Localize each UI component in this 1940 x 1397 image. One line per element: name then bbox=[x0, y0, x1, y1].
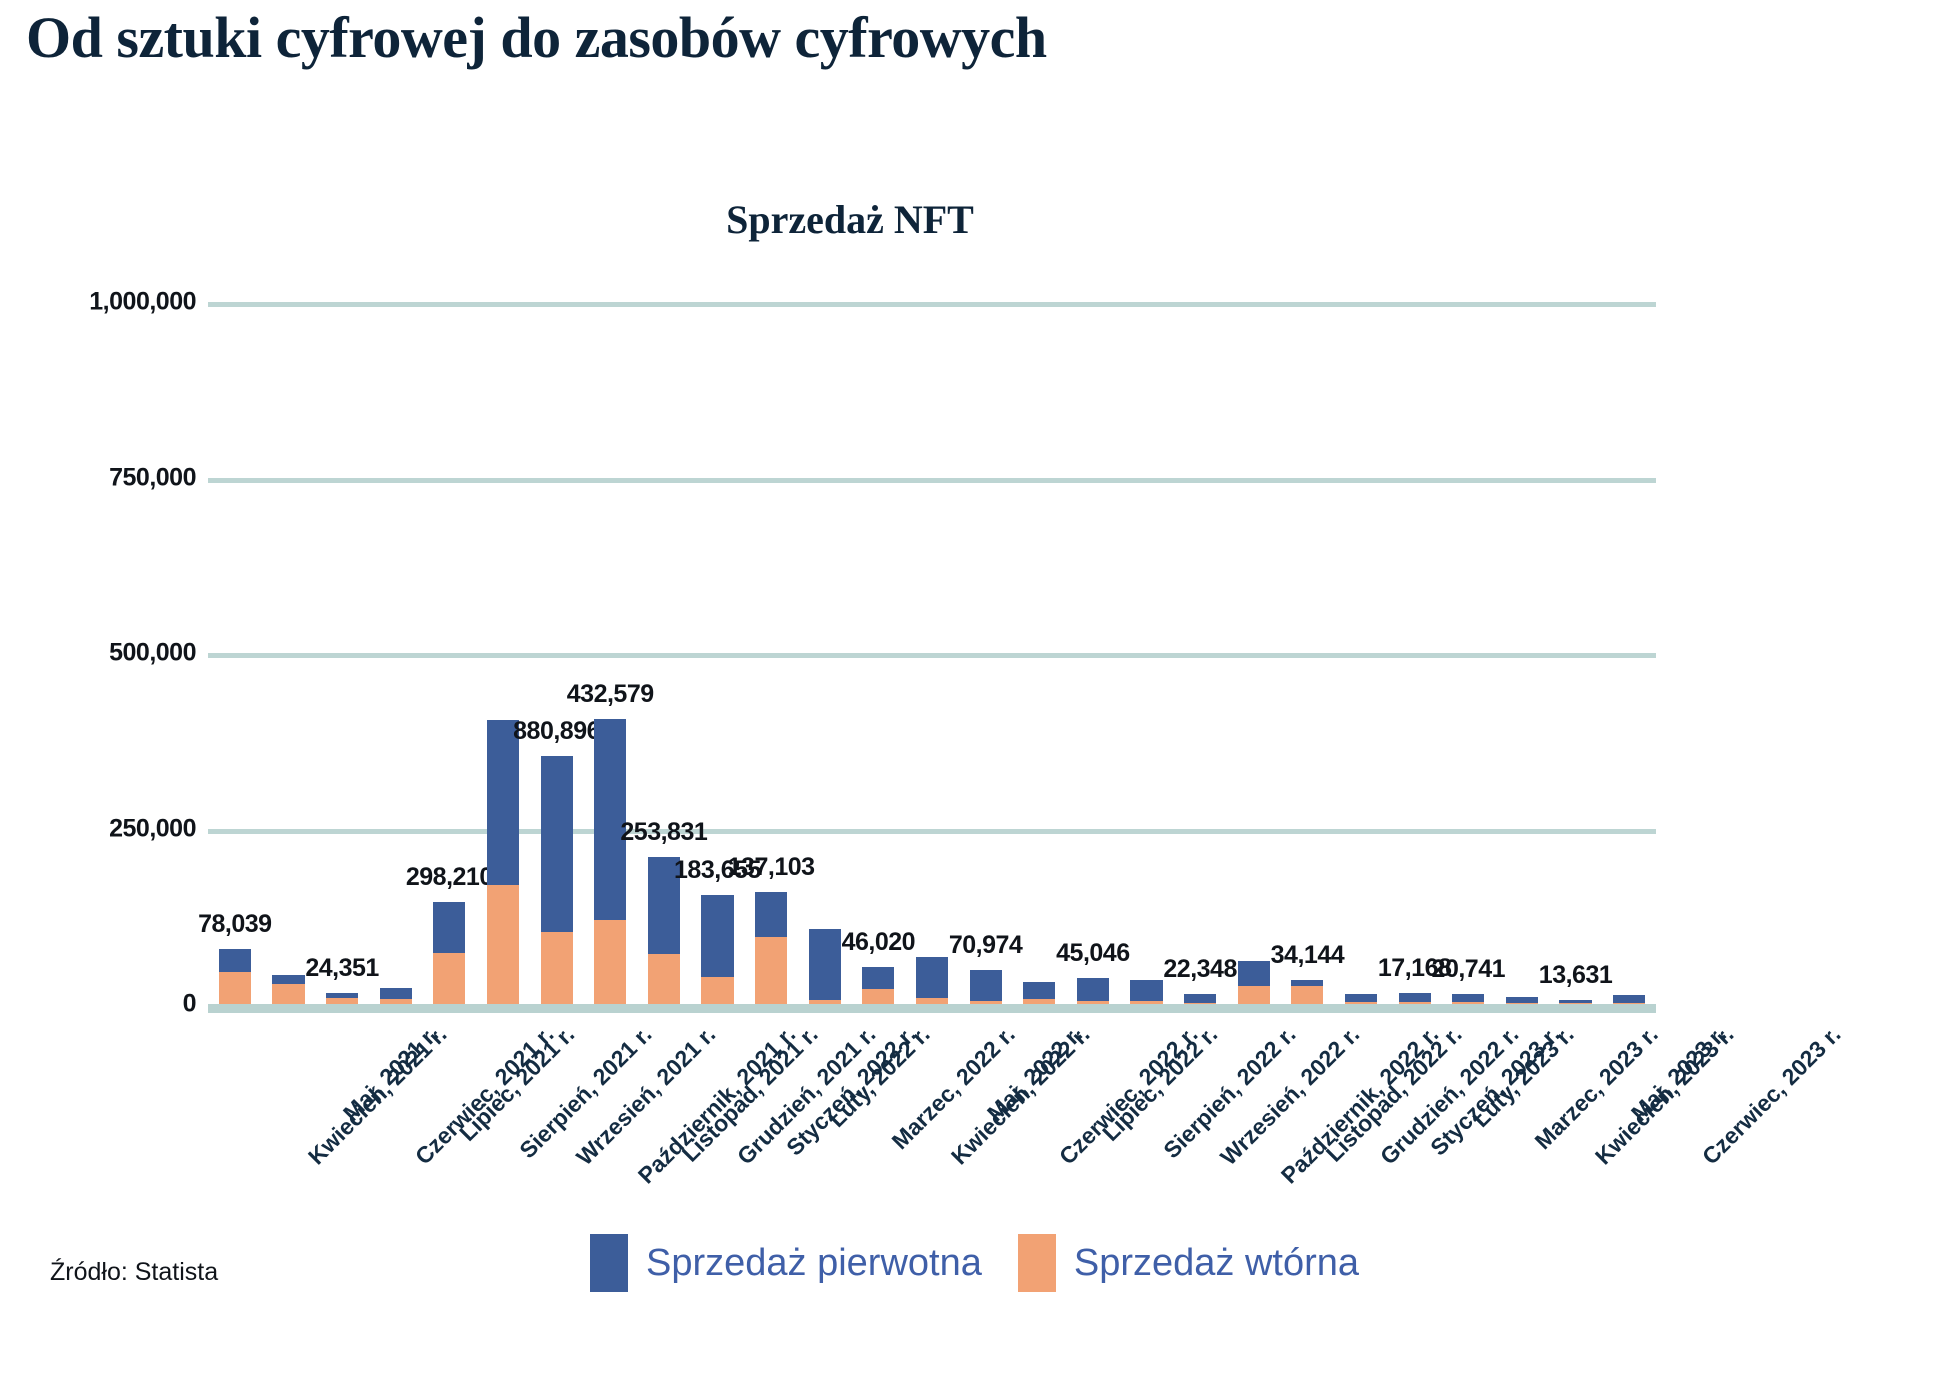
bar-segment-primary[interactable] bbox=[1452, 994, 1484, 1002]
bar-segment-primary[interactable] bbox=[809, 929, 841, 1000]
bar-group[interactable] bbox=[809, 302, 841, 1004]
bar-segment-primary[interactable] bbox=[541, 756, 573, 933]
bar-segment-primary[interactable] bbox=[755, 892, 787, 937]
x-axis-tick: Październik, 2021 r. bbox=[632, 1021, 800, 1189]
bar-segment-primary[interactable] bbox=[701, 895, 733, 977]
bar-value-label: 78,039 bbox=[198, 910, 271, 939]
bar-segment-primary[interactable] bbox=[219, 949, 251, 971]
bar-segment-primary[interactable] bbox=[433, 902, 465, 953]
bar-value-label: 253,831 bbox=[620, 818, 707, 847]
bar-segment-primary[interactable] bbox=[862, 967, 894, 989]
bar-segment-primary[interactable] bbox=[1238, 961, 1270, 986]
plot-area: 78,03924,351298,210880,896432,579253,831… bbox=[208, 302, 1656, 1004]
bar-group[interactable]: 137,103 bbox=[755, 302, 787, 1004]
bar-group[interactable]: 46,020 bbox=[862, 302, 894, 1004]
bar-group[interactable] bbox=[1130, 302, 1162, 1004]
bar-group[interactable]: 70,974 bbox=[970, 302, 1002, 1004]
bar-value-label: 13,631 bbox=[1539, 961, 1612, 990]
bar-value-label: 24,351 bbox=[305, 954, 378, 983]
bar-segment-secondary[interactable] bbox=[862, 989, 894, 1004]
bar-group[interactable]: 253,831 bbox=[648, 302, 680, 1004]
bar-segment-secondary[interactable] bbox=[648, 954, 680, 1004]
bar-group[interactable]: 24,351 bbox=[326, 302, 358, 1004]
bar-group[interactable]: 20,741 bbox=[1452, 302, 1484, 1004]
bar-group[interactable]: 432,579 bbox=[594, 302, 626, 1004]
bar-segment-secondary[interactable] bbox=[541, 932, 573, 1004]
bar-segment-secondary[interactable] bbox=[272, 984, 304, 1004]
bar-segment-primary[interactable] bbox=[1345, 994, 1377, 1002]
x-axis-labels: Kwiecień, 2021 r.Maj, 2021 r.Czerwiec, 2… bbox=[208, 1013, 1656, 1203]
bar-group[interactable] bbox=[487, 302, 519, 1004]
bar-segment-primary[interactable] bbox=[1077, 978, 1109, 1000]
bar-group[interactable] bbox=[916, 302, 948, 1004]
bar-segment-secondary[interactable] bbox=[755, 937, 787, 1004]
bar-group[interactable]: 298,210 bbox=[433, 302, 465, 1004]
bar-group[interactable]: 34,144 bbox=[1291, 302, 1323, 1004]
bar-segment-primary[interactable] bbox=[272, 975, 304, 985]
axis-baseline bbox=[208, 1004, 1656, 1013]
x-axis-tick: Październik, 2022 r. bbox=[1276, 1021, 1444, 1189]
bar-value-label: 22,348 bbox=[1163, 955, 1236, 984]
bar-group[interactable]: 13,631 bbox=[1559, 302, 1591, 1004]
bar-segment-primary[interactable] bbox=[916, 957, 948, 998]
bar-group[interactable] bbox=[272, 302, 304, 1004]
x-axis-tick: Maj, 2021 r. bbox=[338, 1021, 444, 1127]
bar-value-label: 432,579 bbox=[567, 680, 654, 709]
bar-value-label: 880,896 bbox=[513, 717, 600, 746]
legend-label-primary: Sprzedaż pierwotna bbox=[646, 1242, 982, 1285]
y-axis-tick: 250,000 bbox=[6, 814, 196, 843]
bar-segment-secondary[interactable] bbox=[1238, 986, 1270, 1004]
bar-value-label: 298,210 bbox=[406, 863, 493, 892]
bar-value-label: 45,046 bbox=[1056, 939, 1129, 968]
bar-segment-primary[interactable] bbox=[1399, 993, 1431, 1001]
bar-segment-secondary[interactable] bbox=[594, 920, 626, 1004]
source-note: Źródło: Statista bbox=[50, 1258, 218, 1287]
bar-value-label: 20,741 bbox=[1432, 955, 1505, 984]
bar-segment-secondary[interactable] bbox=[433, 953, 465, 1004]
bar-group[interactable]: 17,168 bbox=[1399, 302, 1431, 1004]
bar-group[interactable] bbox=[380, 302, 412, 1004]
bar-segment-primary[interactable] bbox=[1184, 994, 1216, 1002]
bar-group[interactable]: 45,046 bbox=[1077, 302, 1109, 1004]
bar-group[interactable] bbox=[1238, 302, 1270, 1004]
y-axis-tick: 750,000 bbox=[6, 463, 196, 492]
bar-group[interactable] bbox=[1345, 302, 1377, 1004]
bar-group[interactable]: 22,348 bbox=[1184, 302, 1216, 1004]
bar-value-label: 70,974 bbox=[949, 931, 1022, 960]
bar-segment-primary[interactable] bbox=[380, 988, 412, 999]
bar-segment-primary[interactable] bbox=[1023, 982, 1055, 999]
y-axis: 1,000,000750,000500,000250,0000 bbox=[0, 0, 196, 1397]
y-axis-tick: 0 bbox=[6, 990, 196, 1019]
bar-group[interactable]: 880,896 bbox=[541, 302, 573, 1004]
bar-segment-primary[interactable] bbox=[1613, 995, 1645, 1003]
bar-group[interactable]: 183,655 bbox=[701, 302, 733, 1004]
bar-group[interactable] bbox=[1023, 302, 1055, 1004]
bar-value-label: 137,103 bbox=[728, 853, 815, 882]
y-axis-tick: 500,000 bbox=[6, 639, 196, 668]
legend-label-secondary: Sprzedaż wtórna bbox=[1074, 1242, 1359, 1285]
legend: Sprzedaż pierwotna Sprzedaż wtórna bbox=[590, 1234, 1359, 1292]
bar-segment-primary[interactable] bbox=[1130, 980, 1162, 1001]
bar-value-label: 46,020 bbox=[842, 928, 915, 957]
bar-segment-secondary[interactable] bbox=[219, 972, 251, 1004]
bar-group[interactable] bbox=[1506, 302, 1538, 1004]
legend-item-primary[interactable]: Sprzedaż pierwotna bbox=[590, 1234, 982, 1292]
legend-swatch-secondary bbox=[1018, 1234, 1056, 1292]
legend-item-secondary[interactable]: Sprzedaż wtórna bbox=[1018, 1234, 1359, 1292]
bar-value-label: 34,144 bbox=[1271, 941, 1344, 970]
bar-group[interactable] bbox=[1613, 302, 1645, 1004]
bar-segment-secondary[interactable] bbox=[1291, 986, 1323, 1004]
chart-title: Sprzedaż NFT bbox=[0, 196, 1700, 243]
bar-segment-secondary[interactable] bbox=[487, 885, 519, 1004]
bar-group[interactable]: 78,039 bbox=[219, 302, 251, 1004]
bar-segment-secondary[interactable] bbox=[701, 977, 733, 1004]
y-axis-tick: 1,000,000 bbox=[6, 288, 196, 317]
legend-swatch-primary bbox=[590, 1234, 628, 1292]
bar-segment-primary[interactable] bbox=[970, 970, 1002, 1002]
